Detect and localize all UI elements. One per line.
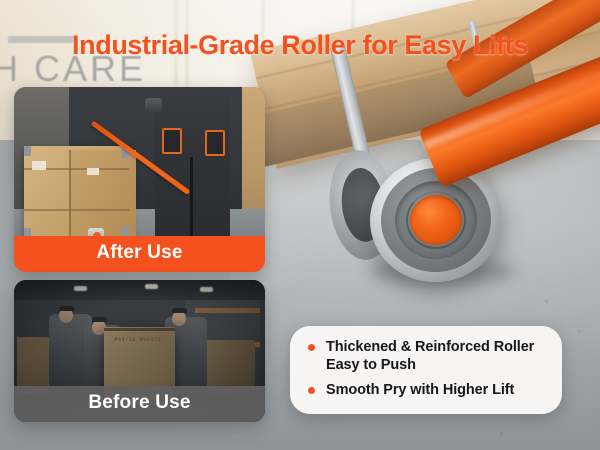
caption-before-use: Before Use bbox=[14, 386, 265, 422]
photo-card-before-use: M43/18 B9242Z Before Use bbox=[14, 280, 265, 422]
feature-text: Thickened & Reinforced Roller Easy to Pu… bbox=[326, 338, 548, 374]
feature-panel: Thickened & Reinforced Roller Easy to Pu… bbox=[290, 326, 562, 414]
caption-after-use: After Use bbox=[14, 236, 265, 272]
feature-item: Smooth Pry with Higher Lift bbox=[306, 381, 548, 399]
headline: Industrial-Grade Roller for Easy Lifts bbox=[0, 30, 600, 61]
after-use-glove bbox=[145, 98, 162, 112]
photo-card-after-use: After Use bbox=[14, 87, 265, 272]
feature-item: Thickened & Reinforced Roller Easy to Pu… bbox=[306, 338, 548, 374]
bullet-dot-icon bbox=[308, 344, 315, 351]
product-ad-banner: H CARE Industrial-Gr bbox=[0, 0, 600, 450]
feature-list: Thickened & Reinforced Roller Easy to Pu… bbox=[306, 338, 548, 399]
feature-text: Smooth Pry with Higher Lift bbox=[326, 381, 514, 399]
bullet-dot-icon bbox=[308, 387, 315, 394]
